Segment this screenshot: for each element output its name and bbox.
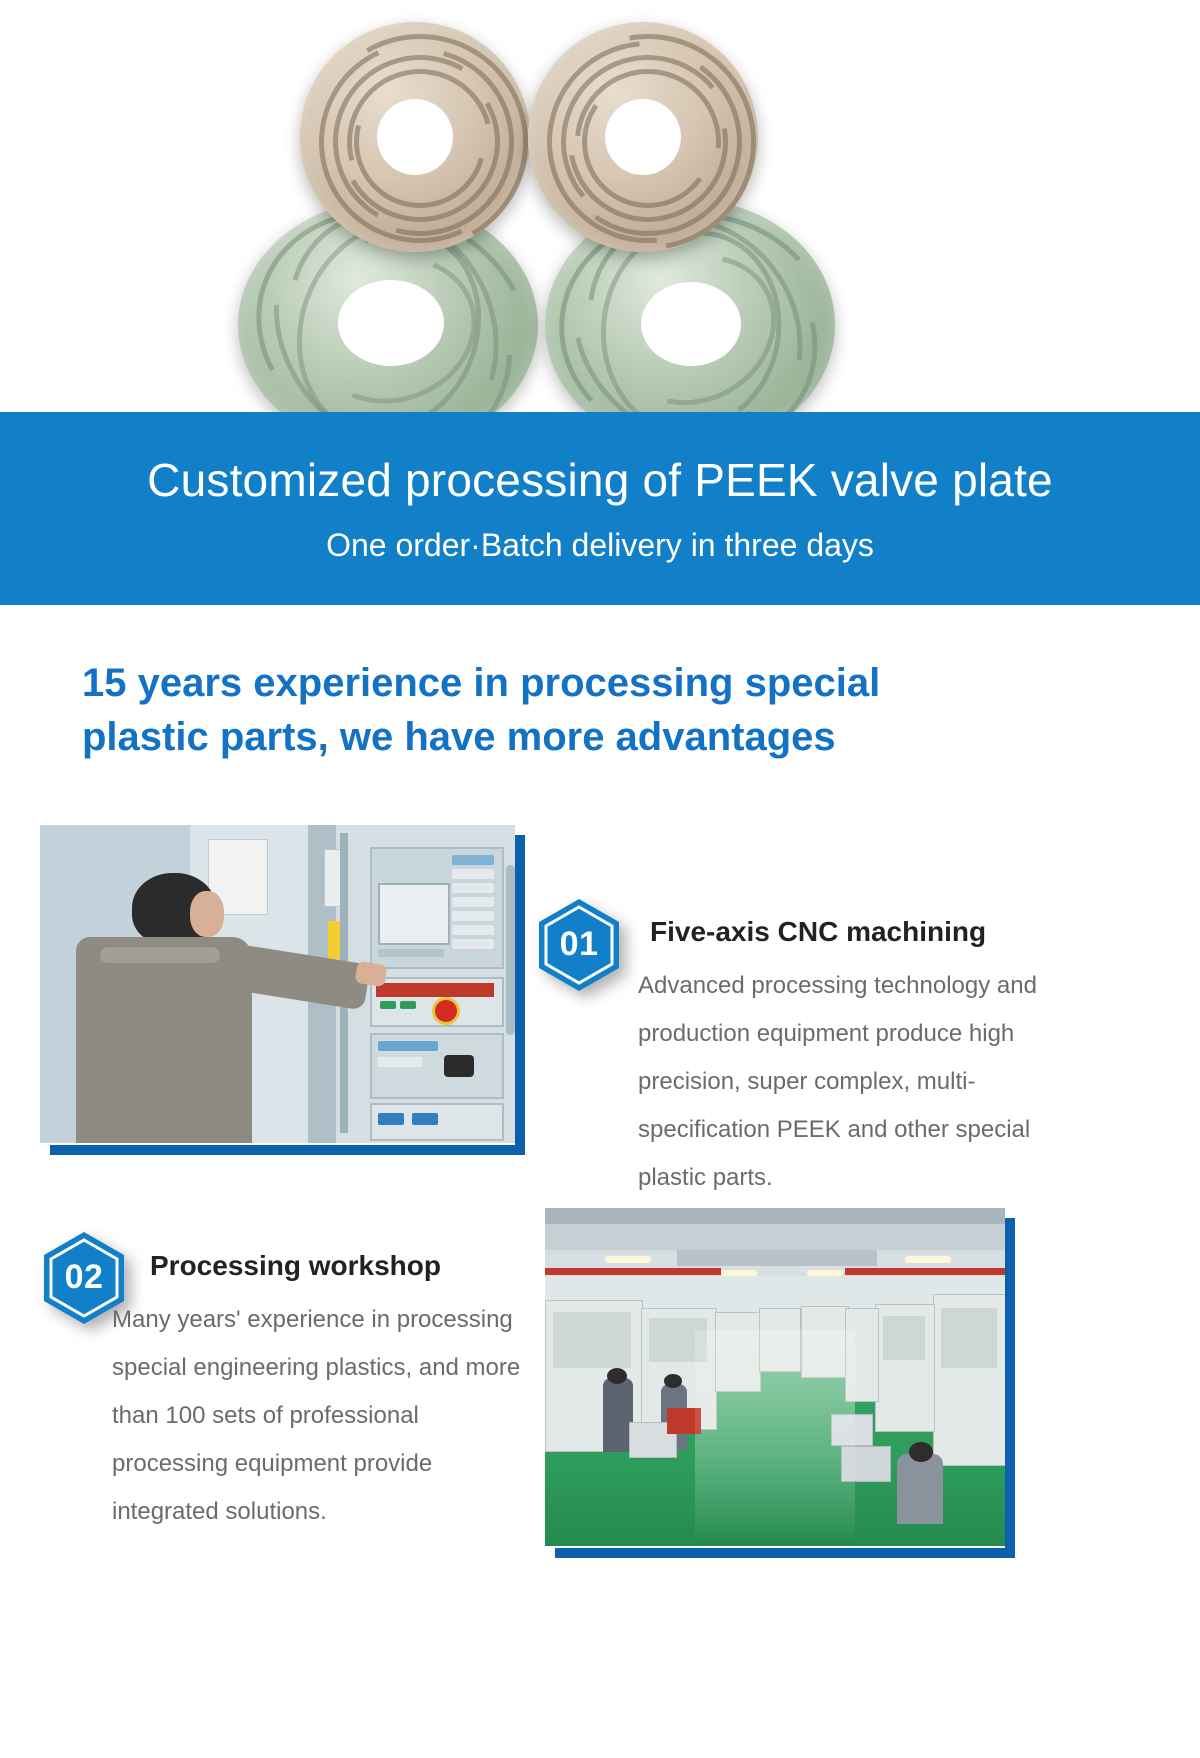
hero-banner: Customized processing of PEEK valve plat… (0, 412, 1200, 605)
headline-line-1: 15 years experience in processing specia… (82, 657, 1082, 711)
valve-plate-tan-top-left (300, 22, 530, 252)
feature-block-02: 02 Processing workshop Many years' exper… (0, 1200, 1200, 1758)
feature-02-image-frame (545, 1208, 1015, 1558)
feature-01-body: Advanced processing technology and produ… (638, 962, 1068, 1202)
section-headline: 15 years experience in processing specia… (82, 657, 1082, 764)
feature-01-number-badge: 01 (535, 897, 623, 993)
banner-subtitle: One order·Batch delivery in three days (326, 529, 874, 561)
feature-01-image-frame (40, 825, 525, 1155)
frame-accent-right (1005, 1218, 1015, 1558)
feature-02-title: Processing workshop (150, 1252, 441, 1280)
frame-accent-right (515, 835, 525, 1155)
center-bore (377, 99, 453, 175)
hero-product-image (0, 0, 1200, 445)
banner-title: Customized processing of PEEK valve plat… (147, 457, 1053, 503)
headline-line-2: plastic parts, we have more advantages (82, 711, 1082, 765)
center-bore (641, 282, 741, 366)
frame-accent-bottom (50, 1145, 525, 1155)
feature-block-01: 01 Five-axis CNC machining Advanced proc… (0, 820, 1200, 1190)
feature-01-title: Five-axis CNC machining (650, 918, 986, 946)
frame-accent-bottom (555, 1548, 1015, 1558)
center-bore (338, 280, 444, 366)
feature-02-photo (545, 1208, 1005, 1546)
valve-plate-tan-top-right (528, 22, 758, 252)
feature-01-photo (40, 825, 515, 1143)
feature-01-number: 01 (535, 897, 623, 993)
feature-02-body: Many years' experience in processing spe… (112, 1296, 522, 1536)
center-bore (605, 99, 681, 175)
